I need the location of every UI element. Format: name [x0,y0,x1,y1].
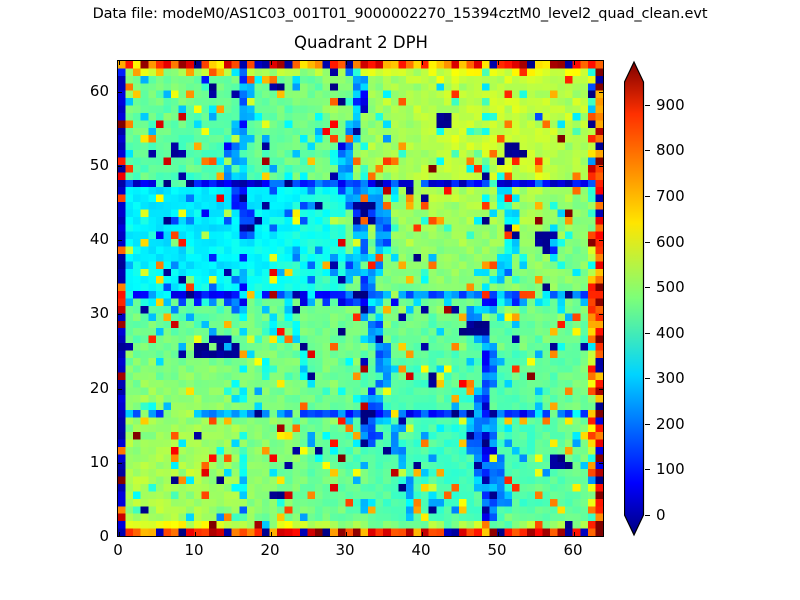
colorbar-tick [645,333,650,334]
x-tick [498,532,499,536]
y-tick [599,166,603,167]
colorbar-gradient [624,60,650,537]
y-tick-label: 30 [90,304,109,322]
y-tick-label: 20 [90,379,109,397]
colorbar-tick-label: 300 [656,369,685,387]
colorbar-tick [645,515,650,516]
y-tick-label: 0 [99,527,109,545]
x-tick-label: 0 [113,541,123,559]
x-tick-label: 30 [335,541,354,559]
colorbar-tick-label: 400 [656,324,685,342]
heatmap-axes[interactable] [117,60,604,537]
page-title: Quadrant 2 DPH [117,33,605,52]
x-tick [422,532,423,536]
colorbar-tick-label: 0 [656,506,666,524]
x-tick [119,61,120,65]
colorbar-tick-label: 700 [656,187,685,205]
x-tick-label: 10 [184,541,203,559]
x-tick [271,61,272,65]
y-tick [599,463,603,464]
y-tick-label: 40 [90,230,109,248]
y-tick [599,314,603,315]
heatmap-image[interactable] [118,61,603,536]
colorbar-tick [645,378,650,379]
y-tick-label: 60 [90,82,109,100]
colorbar-tick [645,242,650,243]
colorbar-tick [645,287,650,288]
x-tick [422,61,423,65]
colorbar-tick [645,105,650,106]
y-tick [118,389,122,390]
colorbar-tick-label: 800 [656,141,685,159]
colorbar-tick-label: 900 [656,96,685,114]
y-tick-label: 50 [90,156,109,174]
y-tick [118,314,122,315]
y-tick [118,92,122,93]
x-tick [195,61,196,65]
x-tick [346,61,347,65]
colorbar-tick [645,196,650,197]
x-tick [574,532,575,536]
x-tick [574,61,575,65]
x-tick [346,532,347,536]
x-tick [119,532,120,536]
x-tick-label: 50 [487,541,506,559]
data-file-label: Data file: modeM0/AS1C03_001T01_90000022… [0,6,800,22]
y-tick [118,463,122,464]
x-tick [195,532,196,536]
colorbar-tick [645,424,650,425]
x-tick-label: 20 [260,541,279,559]
y-tick [118,166,122,167]
colorbar-tick-label: 500 [656,278,685,296]
y-tick-label: 10 [90,453,109,471]
y-tick [599,389,603,390]
x-tick-label: 40 [411,541,430,559]
x-tick-label: 60 [563,541,582,559]
x-tick [271,532,272,536]
y-tick [599,240,603,241]
colorbar[interactable] [624,60,650,537]
colorbar-tick-label: 200 [656,415,685,433]
y-tick [599,92,603,93]
x-tick [498,61,499,65]
colorbar-tick [645,469,650,470]
colorbar-tick-label: 100 [656,460,685,478]
y-tick [118,240,122,241]
colorbar-tick [645,150,650,151]
colorbar-tick-label: 600 [656,233,685,251]
